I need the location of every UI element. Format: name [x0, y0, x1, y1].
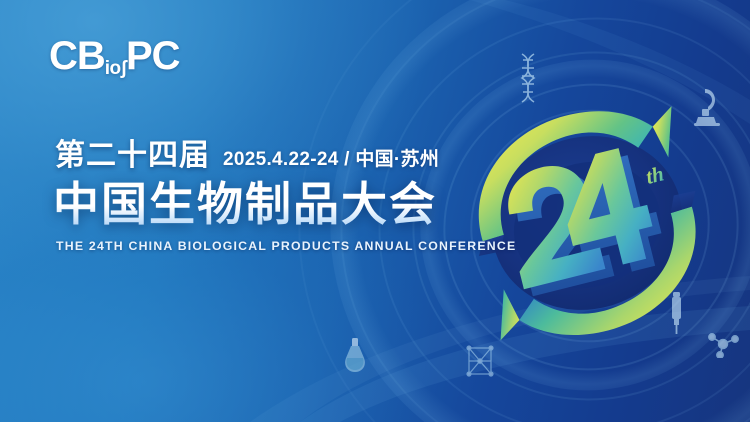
logo-lead-text: CB: [49, 34, 105, 78]
cbiopc-logo[interactable]: CBioʃPC: [49, 36, 180, 76]
flask-icon: [342, 336, 368, 374]
logo-swash: ʃ: [121, 58, 126, 79]
date-location-label: 2025.4.22-24 / 中国·苏州: [223, 150, 439, 169]
microscope-icon: [691, 85, 725, 127]
molecular-lattice-icon: [463, 340, 497, 382]
syringe-icon: [668, 290, 685, 336]
main-title: 中国生物制品大会: [53, 180, 437, 230]
molecule-icon: [707, 330, 739, 358]
logo-tail-text: PC: [126, 34, 180, 78]
headline-row: 第二十四届 2025.4.22-24 / 中国·苏州: [55, 141, 439, 171]
edition-label: 第二十四届: [55, 141, 210, 171]
english-subtitle: THE 24TH CHINA BIOLOGICAL PRODUCTS ANNUA…: [56, 239, 516, 253]
logo-mid-text: io: [105, 58, 121, 79]
dna-helix-icon: [515, 52, 541, 106]
conference-banner: th: [0, 0, 750, 422]
